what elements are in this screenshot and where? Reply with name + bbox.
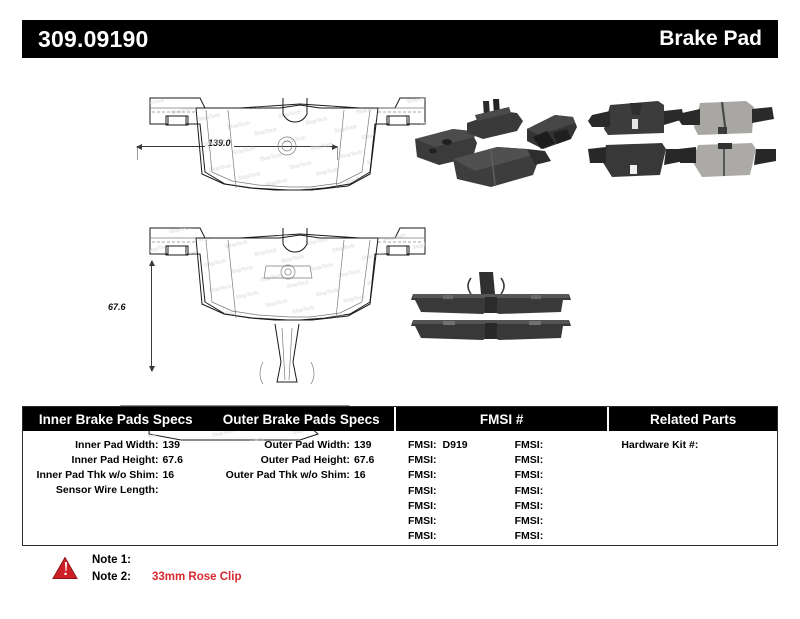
specs-table: Inner Brake Pads Specs Outer Brake Pads …: [22, 406, 778, 546]
spec-label: Sensor Wire Length:: [23, 483, 158, 498]
fmsi-value: D919: [437, 439, 468, 451]
note-label: Note 1:: [92, 552, 146, 569]
table-row: FMSI:: [515, 499, 608, 514]
fmsi-label: FMSI:: [408, 500, 437, 512]
fmsi-subcolumn-right: FMSI: FMSI: FMSI: FMSI: FMSI: FMSI: FMSI…: [501, 438, 608, 546]
spec-label: Inner Pad Height:: [23, 453, 158, 468]
drawing-area: 139.0 67.6 16.0 StopTech StopTech: [0, 62, 800, 392]
table-row: FMSI:: [515, 529, 608, 544]
table-row: Sensor Wire Length:: [23, 483, 208, 498]
table-row: FMSI:: [515, 514, 608, 529]
fmsi-value: [543, 485, 549, 497]
related-parts-column: Hardware Kit #:: [607, 431, 777, 546]
table-row: FMSI:: [408, 484, 501, 499]
fmsi-label: FMSI:: [515, 500, 544, 512]
table-row: Outer Pad Height: 67.6: [208, 453, 393, 468]
spec-value: 139: [158, 438, 208, 453]
spec-label: Outer Pad Width:: [208, 438, 349, 453]
fmsi-subcolumn-left: FMSI:D919 FMSI: FMSI: FMSI: FMSI: FMSI: …: [394, 438, 501, 546]
warning-triangle-icon: [52, 556, 78, 580]
pad-outline-bottom-view: [150, 228, 425, 384]
spec-label: Outer Pad Thk w/o Shim:: [208, 468, 349, 483]
outer-specs-column: Outer Pad Width: 139 Outer Pad Height: 6…: [208, 431, 393, 546]
notes-section: Note 1: Note 2: 33mm Rose Clip: [52, 552, 241, 586]
table-row: FMSI:D919: [408, 438, 501, 453]
product-type: Brake Pad: [659, 27, 762, 51]
fmsi-value: [543, 515, 549, 527]
column-header-outer-specs: Outer Brake Pads Specs: [208, 407, 393, 431]
table-row: Outer Pad Thk w/o Shim: 16: [208, 468, 393, 483]
fmsi-value: [437, 515, 443, 527]
fmsi-label: FMSI:: [515, 469, 544, 481]
spec-value: [158, 483, 208, 498]
table-body: Inner Pad Width: 139 Inner Pad Height: 6…: [23, 431, 777, 546]
fmsi-label: FMSI:: [515, 485, 544, 497]
table-row: FMSI:: [408, 529, 501, 544]
spec-sheet: 309.09190 Brake Pad 139.0 67.6 16.0 Stop…: [0, 0, 800, 619]
related-part-label: Hardware Kit #:: [621, 439, 698, 451]
fmsi-value: [543, 469, 549, 481]
fmsi-label: FMSI:: [515, 439, 544, 451]
pad-set-angled-photo: [405, 87, 580, 197]
table-row: FMSI:: [515, 468, 608, 483]
table-row: Inner Pad Width: 139: [23, 438, 208, 453]
table-row: FMSI:: [515, 484, 608, 499]
note-value: [146, 552, 152, 569]
table-row: Inner Pad Thk w/o Shim: 16: [23, 468, 208, 483]
column-header-inner-specs: Inner Brake Pads Specs: [23, 407, 208, 431]
note-value: 33mm Rose Clip: [146, 569, 241, 586]
fmsi-value: [437, 500, 443, 512]
spec-label: Inner Pad Thk w/o Shim:: [23, 468, 158, 483]
spec-value: 67.6: [350, 453, 394, 468]
table-row: FMSI:: [408, 514, 501, 529]
table-row: FMSI:: [515, 438, 608, 453]
fmsi-value: [437, 454, 443, 466]
pad-pair-edge-photo: [403, 270, 581, 342]
table-row: FMSI:: [408, 468, 501, 483]
fmsi-column: FMSI:D919 FMSI: FMSI: FMSI: FMSI: FMSI: …: [394, 431, 607, 546]
spec-value: 139: [350, 438, 394, 453]
table-header-row: Inner Brake Pads Specs Outer Brake Pads …: [23, 407, 777, 431]
note-row-2: Note 2: 33mm Rose Clip: [92, 569, 241, 586]
fmsi-value: [543, 530, 549, 542]
note-label: Note 2:: [92, 569, 146, 586]
part-number: 309.09190: [38, 26, 149, 53]
fmsi-label: FMSI:: [408, 454, 437, 466]
table-row: FMSI:: [408, 499, 501, 514]
table-row: Inner Pad Height: 67.6: [23, 453, 208, 468]
pad-outline-top-view: [150, 98, 425, 190]
fmsi-label: FMSI:: [408, 439, 437, 451]
header-bar: 309.09190 Brake Pad: [22, 20, 778, 58]
pad-set-four-up-photo: [588, 87, 778, 199]
fmsi-value: [437, 485, 443, 497]
fmsi-label: FMSI:: [515, 530, 544, 542]
table-row: Hardware Kit #:: [621, 438, 777, 453]
fmsi-label: FMSI:: [515, 515, 544, 527]
fmsi-value: [543, 439, 549, 451]
spec-label: Inner Pad Width:: [23, 438, 158, 453]
fmsi-label: FMSI:: [408, 469, 437, 481]
fmsi-label: FMSI:: [408, 515, 437, 527]
column-header-related-parts: Related Parts: [607, 407, 777, 431]
note-lines: Note 1: Note 2: 33mm Rose Clip: [92, 552, 241, 586]
fmsi-label: FMSI:: [408, 485, 437, 497]
fmsi-value: [543, 500, 549, 512]
inner-specs-column: Inner Pad Width: 139 Inner Pad Height: 6…: [23, 431, 208, 546]
table-row: Outer Pad Width: 139: [208, 438, 393, 453]
fmsi-value: [437, 469, 443, 481]
table-row: FMSI:: [408, 453, 501, 468]
table-row: FMSI:: [515, 453, 608, 468]
fmsi-value: [437, 530, 443, 542]
spec-value: 67.6: [158, 453, 208, 468]
spec-value: 16: [158, 468, 208, 483]
spec-label: Outer Pad Height:: [208, 453, 349, 468]
fmsi-label: FMSI:: [515, 454, 544, 466]
spec-value: 16: [350, 468, 394, 483]
fmsi-label: FMSI:: [408, 530, 437, 542]
note-row-1: Note 1:: [92, 552, 241, 569]
column-header-fmsi: FMSI #: [394, 407, 607, 431]
fmsi-value: [543, 454, 549, 466]
